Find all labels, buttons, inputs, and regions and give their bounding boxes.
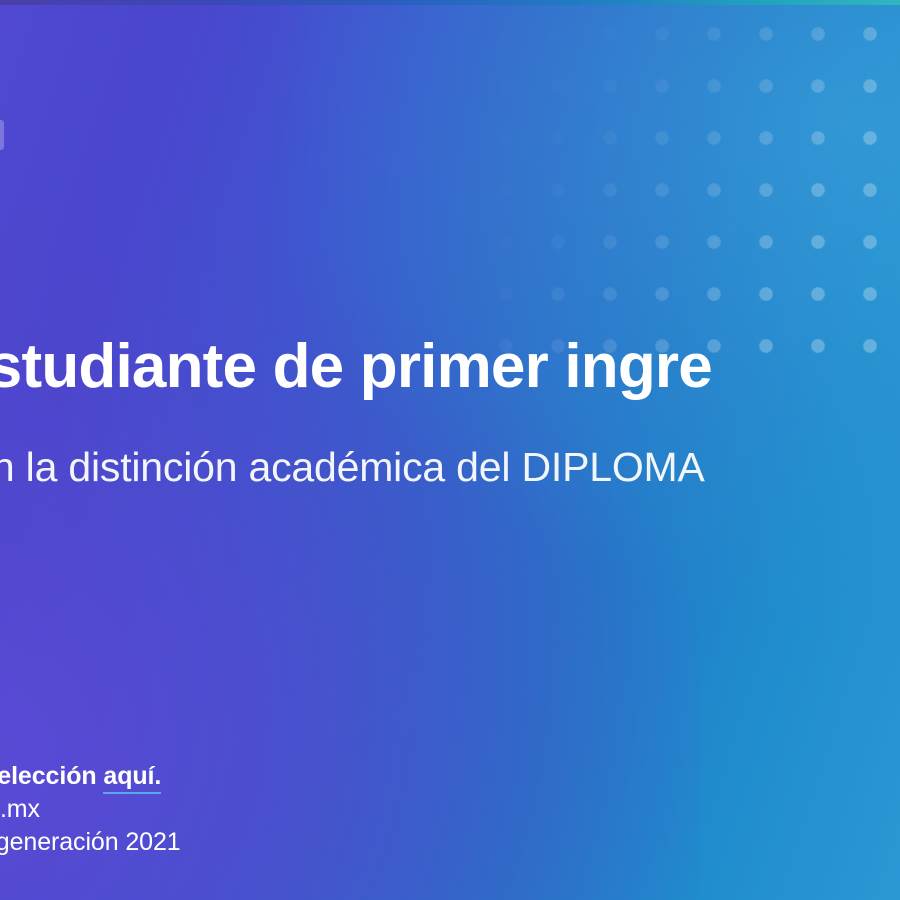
top-edge-accent-bar [0, 0, 900, 5]
promo-banner: s estudiante de primer ingre te con la d… [0, 0, 900, 900]
dot-grid-pattern [470, 0, 900, 360]
footer-line-cta: e pre-selección aquí. [0, 760, 900, 793]
footer-line-url: cios.tec.mx [0, 793, 900, 826]
subheadline: te con la distinción académica del DIPLO… [0, 441, 900, 493]
footer-line-generation: s de la generación 2021 [0, 826, 900, 859]
headline: s estudiante de primer ingre [0, 330, 900, 404]
footer-text-block: e pre-selección aquí. cios.tec.mx s de l… [0, 760, 900, 859]
clipped-logo-mark [0, 120, 4, 150]
footer-here-link[interactable]: aquí. [103, 762, 161, 794]
footer-cta-text: e pre-selección [0, 762, 103, 790]
